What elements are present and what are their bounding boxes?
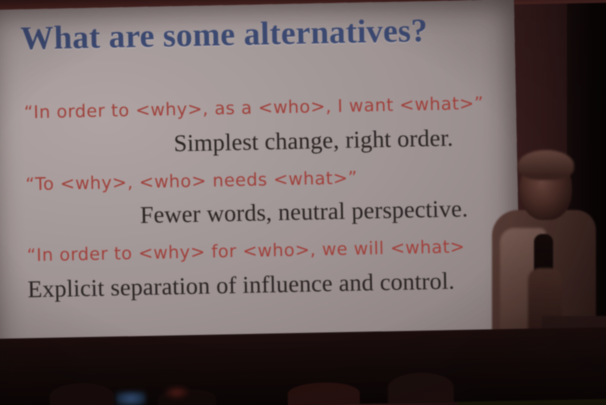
story-template-3: “In order to <why> for <who>, we will <w…	[0, 239, 511, 267]
audience-head	[288, 382, 360, 405]
phone-screen-glow	[116, 391, 146, 405]
story-template-1: “In order to <why>, as a <who>, I want <…	[0, 96, 508, 124]
slide-content: What are some alternatives? “In order to…	[0, 0, 521, 382]
story-comment-1: Simplest change, right order.	[0, 125, 509, 159]
slide-title: What are some alternatives?	[20, 13, 428, 58]
conference-photo: What are some alternatives? “In order to…	[0, 0, 606, 405]
warm-light-glow	[164, 385, 190, 399]
audience-head	[387, 372, 454, 403]
story-comment-3: Explicit separation of influence and con…	[0, 268, 512, 302]
story-comment-2: Fewer words, neutral perspective.	[0, 197, 510, 231]
story-template-2: “To <why>, <who> needs <what>”	[0, 167, 510, 195]
audience-head	[49, 383, 113, 405]
audience-foreground	[0, 327, 606, 405]
projection-screen: What are some alternatives? “In order to…	[0, 0, 521, 382]
slide-body: “In order to <why>, as a <who>, I want <…	[0, 96, 512, 321]
speaker-hair	[518, 150, 574, 180]
